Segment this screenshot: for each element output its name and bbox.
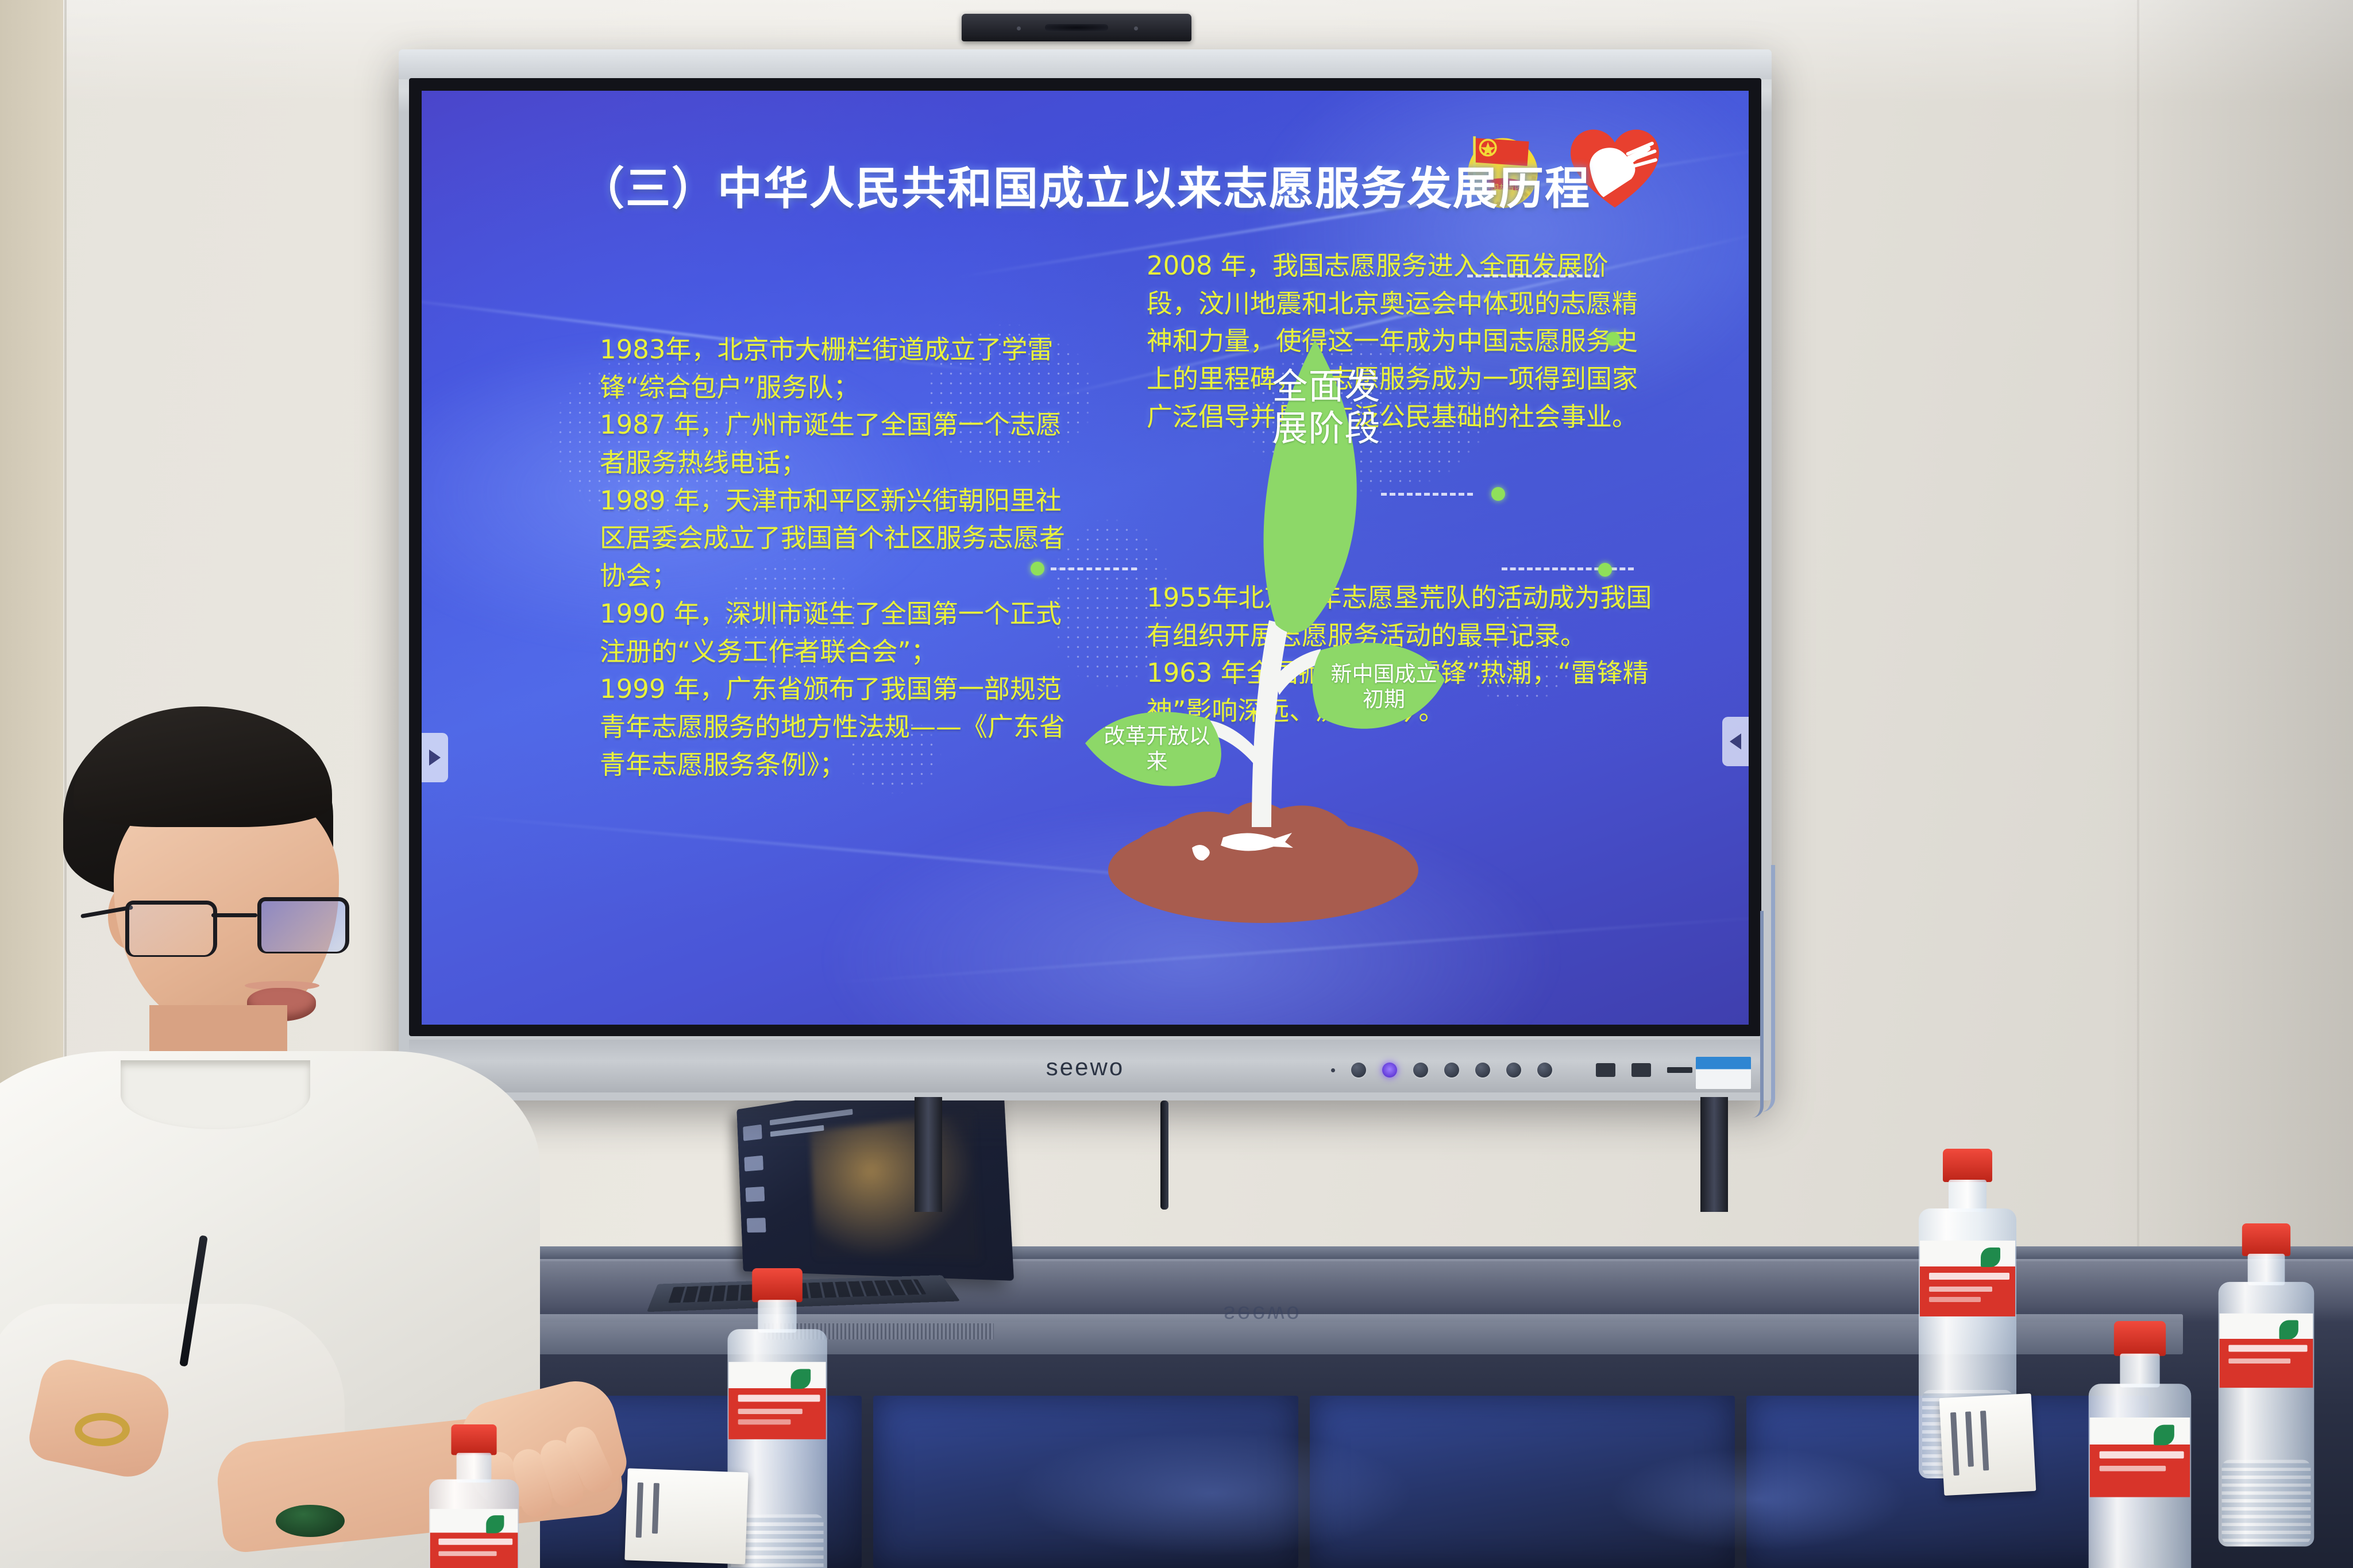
shirt-collar [121, 1060, 310, 1129]
table-reflection-glow [1011, 1430, 1413, 1557]
place-card-text [1980, 1411, 1989, 1470]
bottle-label-line [738, 1419, 791, 1424]
slide-nav-prev-tab[interactable] [1722, 717, 1749, 766]
leaf-icon [2279, 1320, 2298, 1339]
bottle-cap [752, 1268, 803, 1302]
timeline-dot [1606, 332, 1620, 346]
usb-port[interactable] [1596, 1063, 1615, 1077]
bottle-neck [758, 1300, 796, 1333]
indicator-led [1331, 1068, 1335, 1072]
laptop-screen-glare [810, 1112, 980, 1260]
bottle-cap [451, 1424, 496, 1455]
leaf-label-top: 全面发展阶段 [1269, 365, 1384, 449]
camera-bar [962, 14, 1191, 41]
brand-label: seewo [1046, 1053, 1124, 1081]
laptop-ui-tile [746, 1187, 765, 1202]
channel-down-button[interactable] [1506, 1063, 1521, 1077]
leaf-label-left: 改革开放以来 [1097, 724, 1217, 775]
bottle-label-line [2100, 1451, 2184, 1459]
bottle-label-line [2228, 1358, 2290, 1364]
slide-title: （三）中华人民共和国成立以来志愿服务发展历程 [422, 153, 1749, 217]
bottle-label [1920, 1241, 2015, 1316]
chevron-left-icon [1730, 733, 1741, 750]
bottle-neck [2248, 1254, 2285, 1285]
leaf-icon [2154, 1425, 2174, 1446]
microphone-icon [1134, 26, 1138, 30]
bracelet [75, 1413, 130, 1446]
open-laptop[interactable] [655, 1091, 1011, 1338]
bottle-ribs [2222, 1460, 2311, 1544]
glasses-bridge [211, 913, 257, 917]
bottle-label-line [2100, 1466, 2166, 1471]
bottle-label [728, 1362, 826, 1439]
place-card [1939, 1393, 2036, 1496]
bottle-label-line [1929, 1273, 2009, 1280]
laptop-keyboard-deck[interactable] [647, 1275, 960, 1312]
place-card-text [652, 1483, 659, 1534]
laptop-ui-bar [770, 1109, 853, 1126]
bottle-label [2090, 1418, 2190, 1497]
place-card-text [1965, 1411, 1974, 1466]
menu-button[interactable] [1351, 1063, 1366, 1077]
display-stand-leg [1700, 1097, 1728, 1212]
volume-up-button[interactable] [1475, 1063, 1490, 1077]
wall-shadow [2112, 0, 2353, 1321]
bottle-label-line [738, 1395, 820, 1401]
leaf-label-right: 新中国成立初期 [1326, 662, 1441, 713]
place-card-text [1950, 1412, 1959, 1476]
bottle-label-line [738, 1409, 803, 1414]
timeline-dot [1031, 562, 1044, 576]
presentation-slide[interactable]: 中国共青团 （三）中华人民共和国成立以来志愿服务发展 [422, 91, 1749, 1025]
table-reflection-glow [1608, 1447, 1907, 1551]
slide-text-left: 1983年，北京市大栅栏街道成立了学雷锋“综合包户”服务队； 1987 年，广州… [600, 331, 1065, 783]
leaf-icon [486, 1515, 504, 1533]
bottle-label [430, 1509, 518, 1568]
bottle-neck [1949, 1180, 1986, 1212]
glasses-lens-right [257, 897, 349, 953]
hardware-button-row[interactable] [1331, 1063, 1692, 1077]
bottle-label-line [1929, 1287, 1992, 1292]
microphone-icon [1017, 26, 1021, 30]
place-card [624, 1468, 748, 1564]
growing-plant-graphic: 全面发展阶段 改革开放以来 新中国成立初期 [1079, 253, 1447, 925]
camera-lens-icon [1045, 24, 1108, 31]
bottle-cap [2242, 1223, 2290, 1256]
cable-bundle [1741, 911, 1764, 1118]
bottle-label-line [438, 1551, 496, 1556]
place-card-text [636, 1482, 643, 1538]
timeline-dot [1598, 563, 1612, 577]
display-power-cable [1160, 1100, 1168, 1210]
hair-front [74, 706, 332, 827]
connector-dash-bottom [1502, 567, 1634, 570]
laptop-ui-tile [747, 1218, 766, 1233]
volume-down-button[interactable] [1444, 1063, 1459, 1077]
bottle-cap [2114, 1321, 2166, 1356]
power-button[interactable] [1382, 1063, 1397, 1077]
bottle-label [2220, 1314, 2313, 1388]
small-cup[interactable] [276, 1505, 345, 1537]
bottle-label-line [1929, 1297, 1981, 1302]
eyeglasses [125, 897, 344, 965]
source-button[interactable] [1413, 1063, 1428, 1077]
hdmi-port[interactable] [1667, 1067, 1692, 1073]
bottle-label-line [2228, 1345, 2307, 1352]
laptop-ui-tile [744, 1156, 763, 1172]
bottle-cap [1943, 1149, 1992, 1182]
bottle-label-line [438, 1539, 512, 1545]
timeline-dot [1491, 487, 1505, 501]
display-top-bezel [399, 49, 1772, 79]
channel-up-button[interactable] [1537, 1063, 1552, 1077]
bottle-neck [2120, 1354, 2159, 1388]
usb-port[interactable] [1631, 1063, 1651, 1077]
bottle-neck [457, 1453, 492, 1483]
leaf-icon [790, 1369, 811, 1389]
leaf-icon [1981, 1248, 2000, 1267]
reflected-brand-label: seewo [1224, 1301, 1302, 1327]
laptop-ui-tile [743, 1125, 762, 1141]
display-stand-leg [915, 1097, 942, 1212]
connector-dash-top [1467, 275, 1599, 277]
glasses-lens-left [125, 901, 217, 957]
